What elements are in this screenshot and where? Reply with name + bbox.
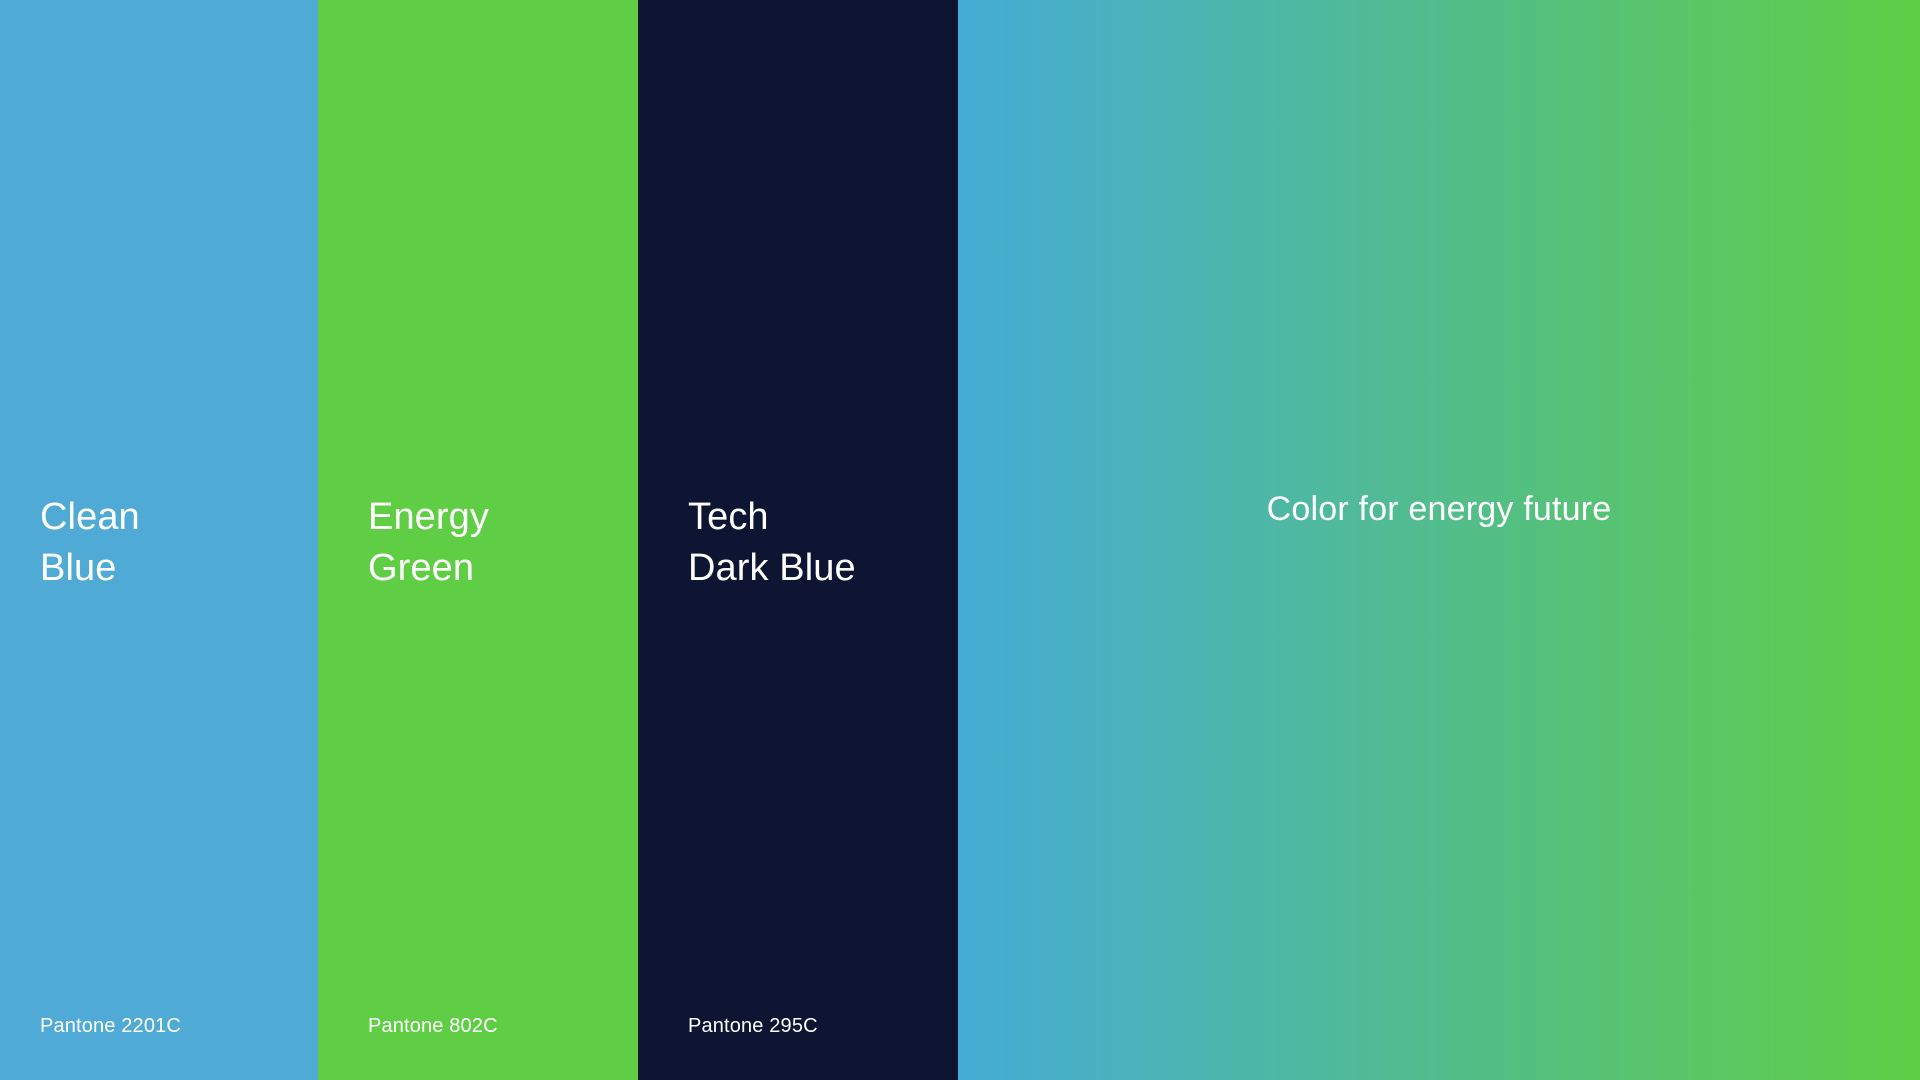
swatch-pantone-clean-blue: Pantone 2201C bbox=[40, 1013, 181, 1039]
swatch-pantone-energy-green: Pantone 802C bbox=[368, 1013, 498, 1039]
color-swatch-tech-dark-blue[interactable]: Tech Dark Blue Pantone 295C bbox=[638, 0, 958, 1080]
color-swatch-energy-green[interactable]: Energy Green Pantone 802C bbox=[318, 0, 638, 1080]
swatch-name-tech-dark-blue: Tech Dark Blue bbox=[688, 492, 856, 594]
tagline-text: Color for energy future bbox=[1267, 486, 1612, 532]
swatch-name-clean-blue: Clean Blue bbox=[40, 492, 140, 594]
gradient-tagline-panel: Color for energy future bbox=[958, 0, 1920, 1080]
swatch-pantone-tech-dark-blue: Pantone 295C bbox=[688, 1013, 818, 1039]
color-palette-board: Clean Blue Pantone 2201C Energy Green Pa… bbox=[0, 0, 1920, 1080]
color-swatch-clean-blue[interactable]: Clean Blue Pantone 2201C bbox=[0, 0, 318, 1080]
swatch-name-energy-green: Energy Green bbox=[368, 492, 489, 594]
